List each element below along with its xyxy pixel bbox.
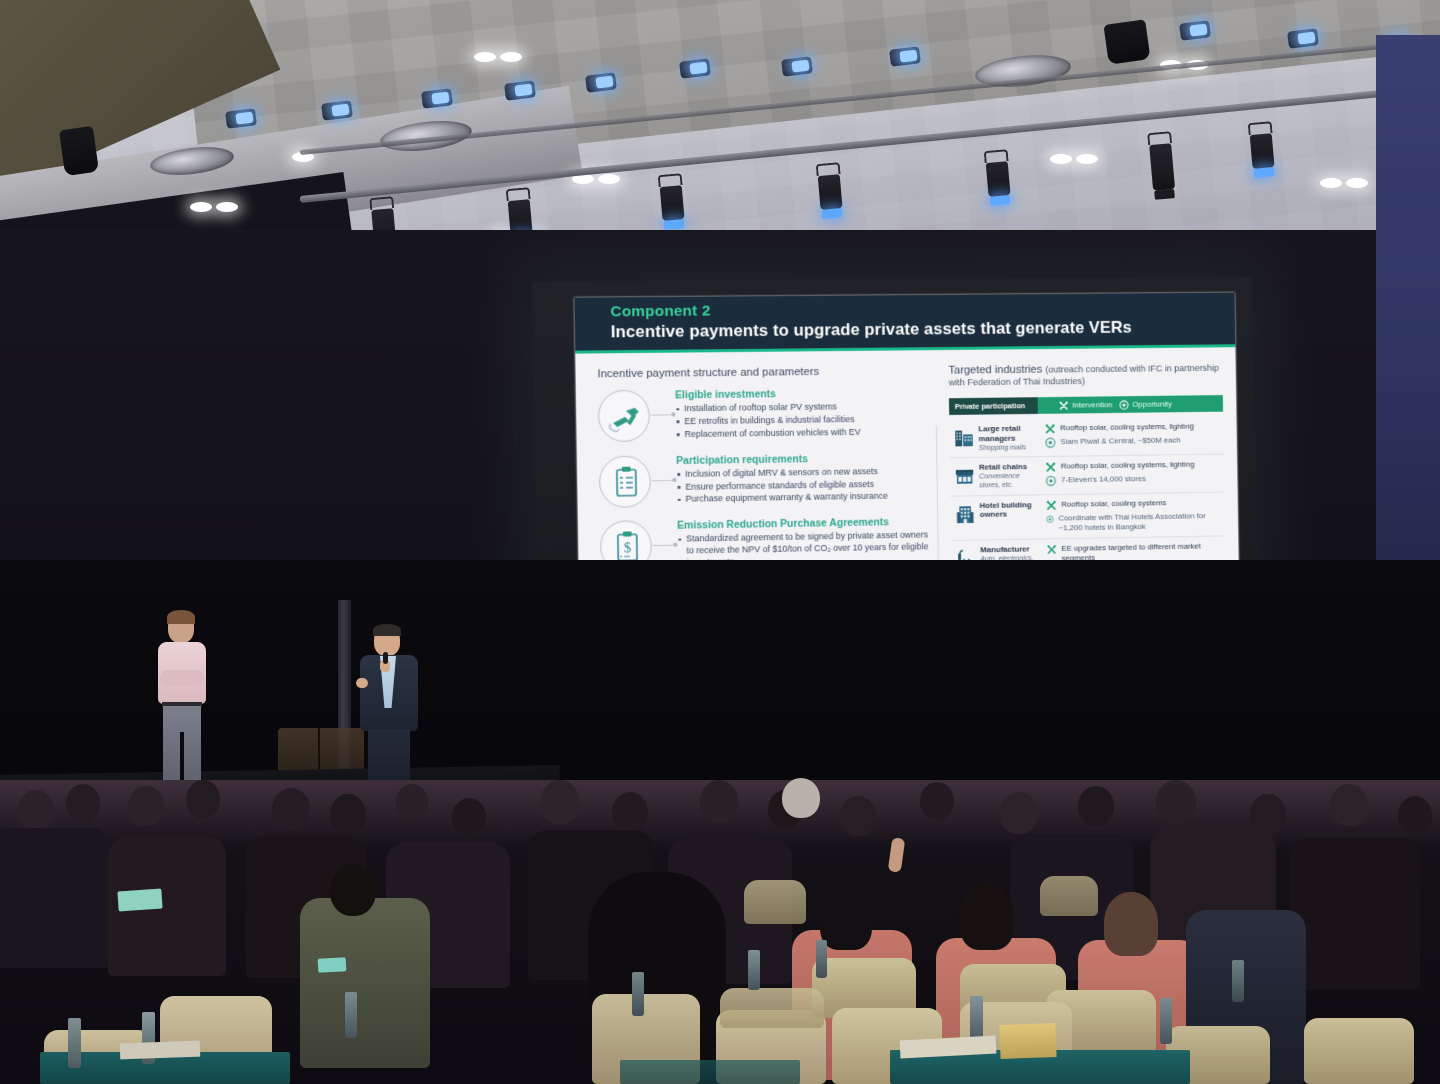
presenter-left-leg-gap <box>180 732 184 784</box>
presenter-right-hand-left <box>356 678 368 688</box>
block-2-title: Participation requirements <box>676 451 934 466</box>
blue-wash-light-9 <box>1179 20 1211 41</box>
industry-name-cell: Hotel building owners <box>980 500 1042 520</box>
block-1-text: Eligible investments Installation of roo… <box>675 387 934 442</box>
blue-wash-light-10 <box>1287 28 1319 49</box>
table-gift-bag <box>999 1023 1056 1059</box>
stage-spotlight-5 <box>984 149 1015 206</box>
opportunity-label: Opportunity <box>1132 400 1172 409</box>
banquet-chair-back <box>744 880 806 924</box>
opportunity-text: Coordinate with Thai Hotels Association … <box>1058 511 1224 533</box>
col-header-intervention-opportunity: Intervention Opportunity <box>1038 395 1223 414</box>
water-bottle <box>632 972 644 1016</box>
audience-body <box>1290 838 1420 990</box>
ceiling-downlight-8 <box>1050 154 1072 164</box>
audience-head <box>840 796 876 836</box>
audience-head <box>1398 796 1432 834</box>
banquet-chair-back <box>1304 1018 1414 1084</box>
audience-head <box>186 780 220 818</box>
crossed-tools-icon <box>1046 499 1057 510</box>
block-2-text: Participation requirements Inclusion of … <box>676 451 935 507</box>
opportunity-item: Coordinate with Thai Hotels Association … <box>1046 511 1225 534</box>
ceiling-downlight-1 <box>190 202 212 212</box>
audience-body <box>0 828 110 968</box>
presenter-left-arms <box>160 670 204 686</box>
block-eligible-investments: Eligible investments Installation of roo… <box>598 387 934 443</box>
audience-head <box>960 884 1014 950</box>
intervention-text: Rooftop solar, cooling systems, lighting <box>1060 422 1194 434</box>
microphone-icon <box>383 652 388 664</box>
industry-items: Rooftop solar, cooling systems, lighting… <box>1041 460 1225 487</box>
intervention-label: Intervention <box>1072 400 1112 409</box>
audience-head <box>820 888 872 950</box>
audience-head <box>330 794 366 834</box>
crossed-tools-icon <box>1045 423 1056 434</box>
industry-name: Hotel building owners <box>980 500 1042 520</box>
table-row: Hotel building owners Rooftop solar, coo… <box>950 492 1225 541</box>
col-header-private-participation: Private participation <box>949 397 1038 415</box>
slide-title: Incentive payments to upgrade private as… <box>611 317 1236 342</box>
audience-head-brown-hair <box>1104 892 1158 956</box>
ceiling-downlight-7 <box>1320 178 1342 188</box>
crossed-tools-icon <box>1059 400 1069 410</box>
target-circle-icon <box>1046 513 1054 524</box>
presenter-right-hair <box>373 624 401 636</box>
intervention-item: Rooftop solar, cooling systems <box>1046 497 1225 511</box>
audience-body-olive-shirt <box>300 898 430 1068</box>
audience-head <box>452 798 486 836</box>
intervention-caption: Intervention <box>1059 400 1113 410</box>
banquet-chair-back <box>1040 876 1098 916</box>
presenter-left-hair <box>167 610 195 624</box>
audience-head <box>700 780 738 822</box>
clipboard-checklist-icon <box>599 455 651 508</box>
blue-wash-light-5 <box>585 72 617 93</box>
audience-head <box>272 788 310 830</box>
opportunity-caption: Opportunity <box>1119 399 1172 409</box>
industry-subname: Shopping malls <box>979 443 1041 452</box>
audience-head <box>330 864 376 916</box>
connector-line-3 <box>653 545 675 546</box>
blue-wash-light-6 <box>679 58 711 79</box>
table-row: Large retail managers Shopping malls Roo… <box>949 417 1223 459</box>
audience-head-grey-hair <box>782 778 820 818</box>
audience-head <box>1000 792 1038 834</box>
audience-head <box>128 786 164 826</box>
stage-spotlight-7 <box>1248 121 1279 178</box>
blue-wash-light-4 <box>504 80 536 101</box>
audience-head <box>396 784 428 820</box>
slide-header: Component 2 Incentive payments to upgrad… <box>574 293 1235 354</box>
table-phone <box>117 888 162 911</box>
stage-spotlight-3 <box>658 173 689 230</box>
audience-head <box>1156 780 1196 824</box>
intervention-item: Rooftop solar, cooling systems, lighting <box>1045 460 1224 473</box>
audience-head <box>540 780 580 824</box>
block-1-title: Eligible investments <box>675 387 933 402</box>
audience-head <box>66 784 100 822</box>
left-column-heading: Incentive payment structure and paramete… <box>597 365 933 380</box>
industry-items: Rooftop solar, cooling systems Coordinat… <box>1041 497 1225 533</box>
opportunity-text: 7-Eleven's 14,000 stores <box>1061 475 1146 486</box>
ceiling-speaker-left <box>59 126 99 176</box>
water-bottle <box>1160 998 1172 1044</box>
industry-name: Large retail managers <box>978 424 1040 444</box>
blue-wash-light-2 <box>321 100 353 121</box>
blue-wash-light-3 <box>421 88 453 109</box>
table-header-row: Private participation Intervention <box>949 395 1223 415</box>
audience-head <box>1330 784 1368 826</box>
right-column-heading: Targeted industries (outreach conducted … <box>948 362 1222 388</box>
audience-area <box>0 780 1440 1084</box>
industry-name-cell: Large retail managers Shopping malls <box>978 424 1040 453</box>
industry-items: Rooftop solar, cooling systems, lighting… <box>1040 421 1224 448</box>
connector-line-1 <box>651 414 673 415</box>
right-wall-panel <box>1376 35 1440 595</box>
bullet: Purchase equipment warranty & warranty i… <box>677 490 935 506</box>
intervention-text: Rooftop solar, cooling systems, lighting <box>1061 460 1195 472</box>
svg-text:$: $ <box>624 541 632 557</box>
crossed-tools-icon <box>1045 462 1056 473</box>
table-papers <box>120 1041 201 1060</box>
water-bottle <box>345 992 357 1038</box>
target-circle-icon <box>1045 437 1056 448</box>
audience-head <box>18 790 54 830</box>
water-bottle <box>748 950 760 990</box>
hand-hammer-icon <box>598 390 650 442</box>
block-participation-requirements: Participation requirements Inclusion of … <box>599 451 935 508</box>
opportunity-item: Siam Piwat & Central, ~$50M each <box>1045 435 1224 448</box>
banquet-chair-back <box>720 988 824 1028</box>
opportunity-item: 7-Eleven's 14,000 stores <box>1046 473 1225 486</box>
opportunity-text: Siam Piwat & Central, ~$50M each <box>1060 436 1180 447</box>
water-bottle <box>68 1018 81 1068</box>
stage-spotlight-4 <box>816 162 847 219</box>
audience-head <box>920 782 954 820</box>
conference-hall-photo: Component 2 Incentive payments to upgrad… <box>0 0 1440 1084</box>
ceiling-speaker-right <box>1103 19 1150 64</box>
banquet-table <box>620 1060 800 1084</box>
intervention-item: Rooftop solar, cooling systems, lighting <box>1045 421 1224 434</box>
hotel-building-icon <box>951 501 980 525</box>
audience-head <box>1078 786 1114 826</box>
industry-subname: Convenience stores, etc. <box>979 472 1041 490</box>
target-circle-icon <box>1046 476 1057 487</box>
ceiling-downlight-3 <box>474 52 496 62</box>
right-heading-main: Targeted industries <box>948 364 1042 377</box>
target-circle-icon <box>1119 400 1129 410</box>
industry-name-cell: Retail chains Convenience stores, etc. <box>979 462 1041 490</box>
block-1-bullets: Installation of rooftop solar PV systems… <box>675 400 934 440</box>
water-bottle <box>1232 960 1244 1002</box>
water-bottle <box>816 940 827 978</box>
bullet: Replacement of combustion vehicles with … <box>676 426 934 441</box>
table-row: Retail chains Convenience stores, etc. R… <box>950 455 1224 496</box>
storefront-icon <box>950 463 979 487</box>
blue-wash-light-7 <box>781 56 813 77</box>
blue-wash-light-1 <box>225 108 257 129</box>
blue-wash-light-8 <box>889 46 921 67</box>
crossed-tools-icon <box>1047 544 1057 555</box>
table-phone <box>318 957 347 972</box>
office-tower-icon <box>949 424 978 448</box>
audience-head <box>612 792 648 832</box>
block-2-bullets: Inclusion of digital MRV & sensors on ne… <box>676 465 935 506</box>
intervention-text: Rooftop solar, cooling systems <box>1061 498 1166 510</box>
connector-line-2 <box>652 480 674 481</box>
